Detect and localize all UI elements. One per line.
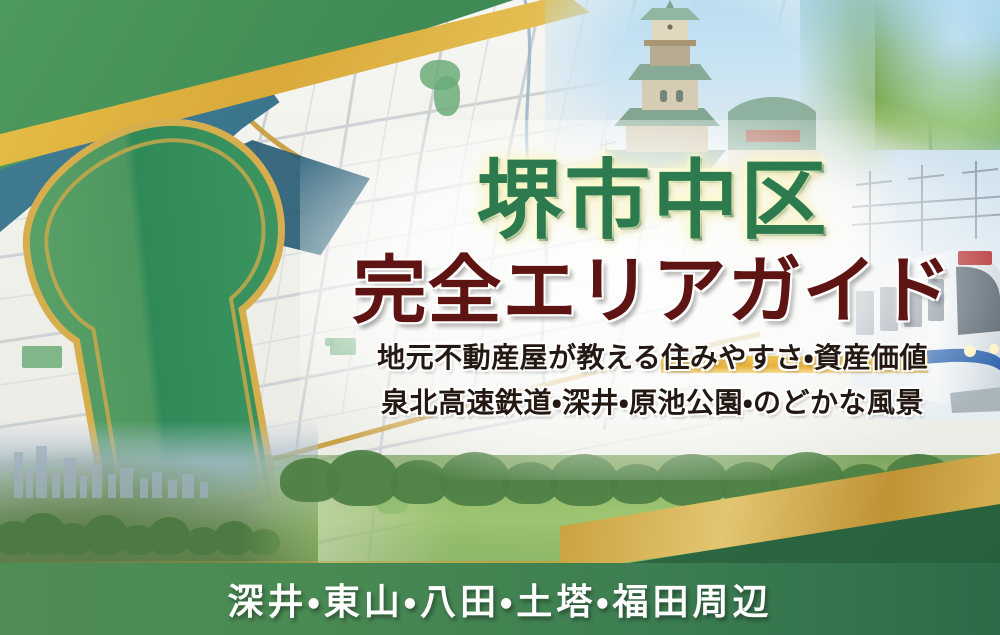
footer-area-list: 深井・東山・八田・土塔・福田周辺: [228, 573, 773, 625]
page-title: 堺市中区: [330, 158, 975, 246]
lead-line-2: 泉北高速鉄道・深井・原池公園・のどかな風景: [330, 386, 975, 421]
area-guide-banner: 堺市中区 完全エリアガイド 地元不動産屋が教える住みやすさ・資産価値 泉北高速鉄…: [0, 0, 1000, 635]
map-parcel-h: [434, 76, 460, 116]
lead-line-1: 地元不動産屋が教える住みやすさ・資産価値: [330, 341, 975, 376]
lead-plain-text: 地元不動産屋が教える: [377, 342, 661, 373]
page-subtitle: 完全エリアガイド: [330, 252, 975, 330]
map-parcel-a: [22, 346, 62, 368]
footer-banner: 深井・東山・八田・土塔・福田周辺: [0, 563, 1000, 635]
lead-highlight-text: 住みやすさ・資産価値: [661, 342, 928, 373]
headline-block: 堺市中区 完全エリアガイド 地元不動産屋が教える住みやすさ・資産価値 泉北高速鉄…: [330, 158, 975, 431]
